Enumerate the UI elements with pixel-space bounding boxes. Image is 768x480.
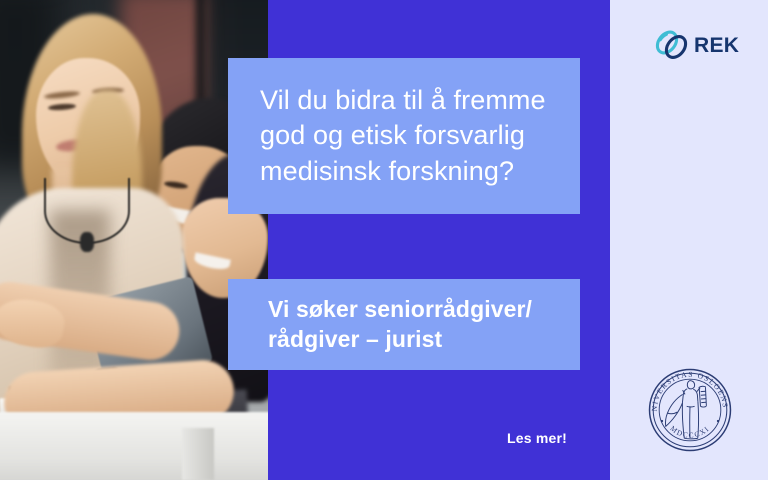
photo-desk xyxy=(0,412,268,480)
seal-outer-text: UNIVERSITAS OSLOENSIS xyxy=(644,364,730,412)
photo-pendant xyxy=(80,232,94,252)
universitas-osloensis-seal-icon: UNIVERSITAS OSLOENSIS MDCCCXI xyxy=(644,364,736,456)
subheadline-text: Vi søker seniorrådgiver/ rådgiver – juri… xyxy=(228,295,580,355)
rek-wordmark: REK xyxy=(694,35,739,56)
rek-logo[interactable]: REK xyxy=(652,27,738,63)
read-more-link[interactable]: Les mer! xyxy=(507,430,567,446)
subheadline-box: Vi søker seniorrådgiver/ rådgiver – juri… xyxy=(228,279,580,370)
photo-desk-edge xyxy=(182,428,214,480)
interlocking-rings-icon xyxy=(652,27,692,63)
headline-text: Vil du bidra til å fremme god og etisk f… xyxy=(228,83,580,188)
uio-seal: UNIVERSITAS OSLOENSIS MDCCCXI xyxy=(644,364,736,456)
banner-canvas: Vil du bidra til å fremme god og etisk f… xyxy=(0,0,768,480)
headline-box: Vil du bidra til å fremme god og etisk f… xyxy=(228,58,580,214)
